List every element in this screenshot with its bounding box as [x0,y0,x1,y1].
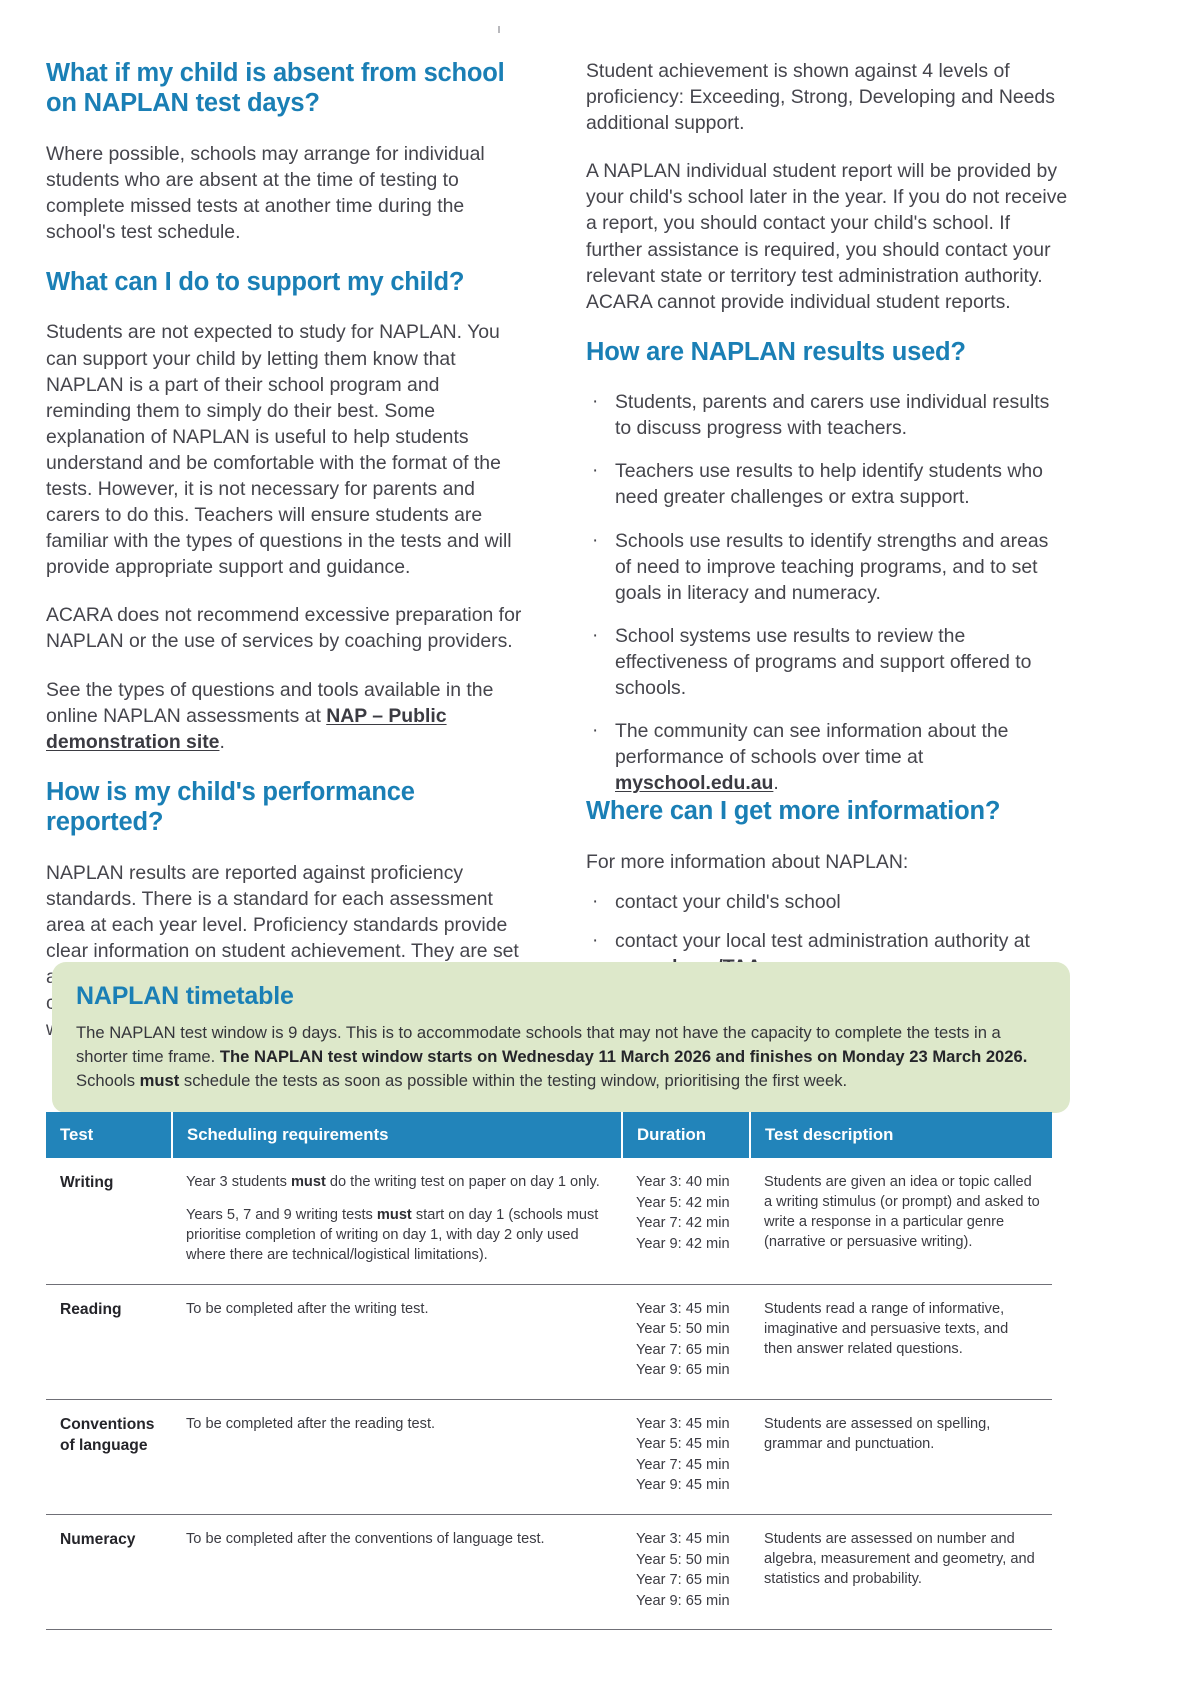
list-item-label: Teachers use results to help identify st… [615,460,1043,508]
duration-line: Year 7: 65 min [636,1340,738,1361]
scheduling-paragraph-2: Years 5, 7 and 9 writing tests must star… [186,1205,610,1265]
duration-line: Year 9: 65 min [636,1591,738,1612]
sched-text-1a: Year 3 students [186,1174,291,1190]
cell-scheduling: Year 3 students must do the writing test… [172,1158,622,1284]
right-column: Student achievement is shown against 4 l… [586,58,1068,1093]
cell-test-name: Conventions of language [46,1399,172,1514]
list-item: · School systems use results to review t… [586,623,1068,701]
list-item: · Teachers use results to help identify … [586,458,1068,510]
duration-line: Year 5: 45 min [636,1434,738,1455]
paragraph-support-3: See the types of questions and tools ava… [46,677,528,755]
paragraph-individual-student-report: A NAPLAN individual student report will … [586,158,1068,315]
two-column-body: What if my child is absent from school o… [46,58,1068,1093]
cell-description: Students read a range of informative, im… [750,1284,1052,1399]
timetable-text-part3: schedule the tests as soon as possible w… [179,1071,847,1090]
bullet-icon: · [592,389,598,415]
list-item-label: School systems use results to review the… [615,625,1031,699]
bullet-icon: · [592,528,598,554]
timetable-text-part2: Schools [76,1071,140,1090]
table-row: Reading To be completed after the writin… [46,1284,1052,1399]
heading-absent-from-school: What if my child is absent from school o… [46,58,528,119]
cell-test-name: Writing [46,1158,172,1284]
cell-description: Students are given an idea or topic call… [750,1158,1052,1284]
link-myschool-edu-au[interactable]: myschool.edu.au [615,772,773,794]
list-results-used: · Students, parents and carers use indiv… [586,389,1068,796]
heading-performance-reported: How is my child's performance reported? [46,777,528,838]
bullet-icon: · [592,718,598,744]
naplan-timetable-callout: NAPLAN timetable The NAPLAN test window … [52,962,1070,1113]
duration-line: Year 7: 42 min [636,1213,738,1234]
timetable-text-bold2: must [140,1071,180,1090]
list-item: · Schools use results to identify streng… [586,528,1068,606]
bullet-icon: · [592,928,598,954]
table-row: Conventions of language To be completed … [46,1399,1052,1514]
cell-duration: Year 3: 45 min Year 5: 50 min Year 7: 65… [622,1515,750,1630]
column-header-test: Test [46,1112,172,1158]
scan-artifact [498,26,500,33]
demo-site-text-after: . [219,731,224,753]
list-item-label: Schools use results to identify strength… [615,530,1048,604]
cell-duration: Year 3: 45 min Year 5: 45 min Year 7: 45… [622,1399,750,1514]
table-header-row: Test Scheduling requirements Duration Te… [46,1112,1052,1158]
cell-duration: Year 3: 40 min Year 5: 42 min Year 7: 42… [622,1158,750,1284]
duration-line: Year 5: 50 min [636,1550,738,1571]
duration-line: Year 7: 45 min [636,1455,738,1476]
myschool-text-after: . [773,772,778,794]
bullet-icon: · [592,458,598,484]
paragraph-proficiency-levels: Student achievement is shown against 4 l… [586,58,1068,136]
table-row: Writing Year 3 students must do the writ… [46,1158,1052,1284]
duration-line: Year 9: 42 min [636,1234,738,1255]
cell-test-name: Numeracy [46,1515,172,1630]
table-row: Numeracy To be completed after the conve… [46,1515,1052,1630]
heading-results-used: How are NAPLAN results used? [586,337,1068,367]
document-page: What if my child is absent from school o… [0,0,1190,1684]
list-item-myschool: · The community can see information abou… [586,718,1068,796]
sched-bold-1: must [291,1174,326,1190]
cell-scheduling: To be completed after the reading test. [172,1399,622,1514]
list-item: · Students, parents and carers use indiv… [586,389,1068,441]
duration-line: Year 3: 45 min [636,1299,738,1320]
list-item-label: Students, parents and carers use individ… [615,391,1049,439]
heading-more-information: Where can I get more information? [586,796,1068,826]
duration-line: Year 3: 40 min [636,1172,738,1193]
timetable-text-bold1: The NAPLAN test window starts on Wednesd… [220,1047,1027,1066]
duration-line: Year 9: 65 min [636,1360,738,1381]
cell-description: Students are assessed on number and alge… [750,1515,1052,1630]
left-column: What if my child is absent from school o… [46,58,528,1093]
list-item-label: contact your child's school [615,891,841,913]
timetable-callout-title: NAPLAN timetable [76,982,1046,1011]
timetable-callout-text: The NAPLAN test window is 9 days. This i… [76,1021,1046,1093]
paragraph-absent-students: Where possible, schools may arrange for … [46,141,528,245]
myschool-text-before: The community can see information about … [615,720,1008,768]
column-header-scheduling: Scheduling requirements [172,1112,622,1158]
sched-text-2a: Years 5, 7 and 9 writing tests [186,1207,377,1223]
sched-text-1b: do the writing test on paper on day 1 on… [326,1174,600,1190]
paragraph-support-1: Students are not expected to study for N… [46,319,528,580]
duration-line: Year 9: 45 min [636,1475,738,1496]
bullet-icon: · [592,623,598,649]
cell-description: Students are assessed on spelling, gramm… [750,1399,1052,1514]
heading-support-my-child: What can I do to support my child? [46,267,528,297]
cell-duration: Year 3: 45 min Year 5: 50 min Year 7: 65… [622,1284,750,1399]
column-header-description: Test description [750,1112,1052,1158]
bullet-icon: · [592,889,598,915]
paragraph-support-2: ACARA does not recommend excessive prepa… [46,602,528,654]
cell-scheduling: To be completed after the conventions of… [172,1515,622,1630]
duration-line: Year 3: 45 min [636,1414,738,1435]
duration-line: Year 5: 50 min [636,1319,738,1340]
cell-scheduling: To be completed after the writing test. [172,1284,622,1399]
sched-bold-2: must [377,1207,412,1223]
duration-line: Year 7: 65 min [636,1570,738,1591]
naplan-timetable-table: Test Scheduling requirements Duration Te… [46,1112,1052,1630]
scheduling-paragraph-1: Year 3 students must do the writing test… [186,1172,610,1192]
cell-test-name: Reading [46,1284,172,1399]
duration-line: Year 3: 45 min [636,1529,738,1550]
paragraph-more-info-lead: For more information about NAPLAN: [586,849,1068,875]
taa-text-before: contact your local test administration a… [615,930,1030,952]
duration-line: Year 5: 42 min [636,1193,738,1214]
list-item-contact-school: · contact your child's school [586,889,1068,915]
column-header-duration: Duration [622,1112,750,1158]
